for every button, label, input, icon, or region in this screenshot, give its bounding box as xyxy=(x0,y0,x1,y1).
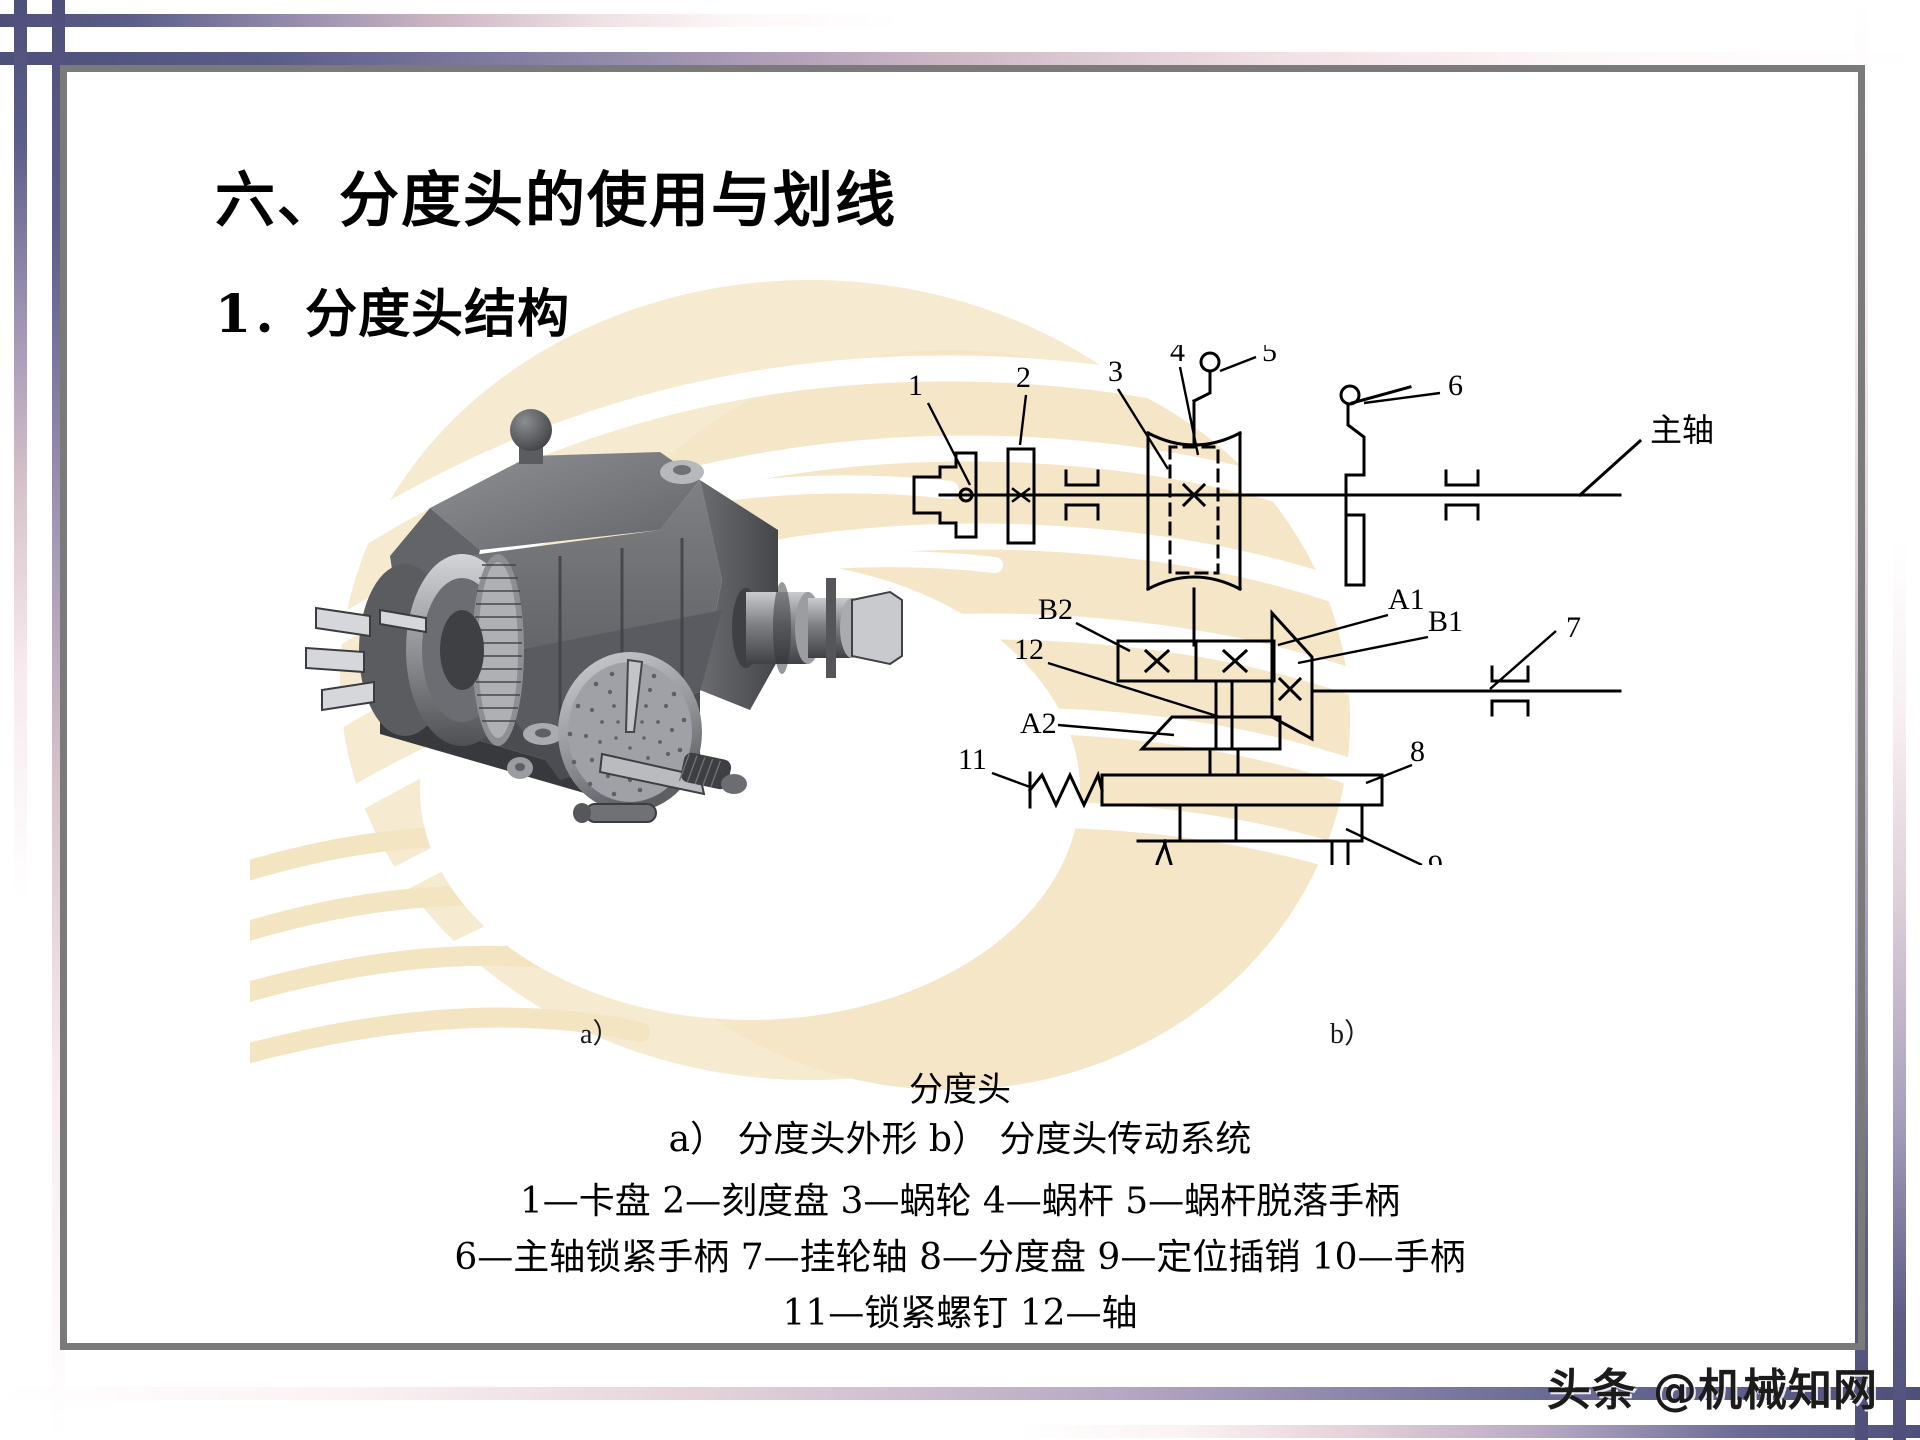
legend-line-1: 1—卡盘 2—刻度盘 3—蜗轮 4—蜗杆 5—蜗杆脱落手柄 xyxy=(0,1172,1920,1224)
diagram-label-7: 7 xyxy=(1566,611,1581,644)
diagram-label-spindle: 主轴 xyxy=(1650,411,1714,449)
diagram-label-a2: A2 xyxy=(1020,707,1057,740)
diagram-label-4: 4 xyxy=(1170,345,1185,368)
page-subtitle: 1．分度头结构 xyxy=(215,272,570,347)
watermark-label: 头条 @机械知网 xyxy=(1547,1354,1878,1418)
diagram-label-a1: A1 xyxy=(1388,583,1425,616)
deco-bar-left-1 xyxy=(14,0,27,900)
figure-caption-sub: a） 分度头外形 b） 分度头传动系统 xyxy=(0,1110,1920,1162)
legend-line-2: 6—主轴锁紧手柄 7—挂轮轴 8—分度盘 9—定位插销 10—手柄 xyxy=(0,1228,1920,1280)
diagram-label-12: 12 xyxy=(1014,633,1044,666)
diagram-label-11: 11 xyxy=(958,743,987,776)
deco-bar-top-2 xyxy=(0,52,1920,65)
diagram-label-2: 2 xyxy=(1016,361,1031,394)
diagram-label-b2: B2 xyxy=(1038,593,1073,626)
slide-canvas: 六、分度头的使用与划线 1．分度头结构 xyxy=(0,0,1920,1440)
figure-a-sublabel: a） xyxy=(580,1012,620,1052)
diagram-label-3: 3 xyxy=(1108,355,1123,388)
deco-bar-bottom-1 xyxy=(1020,1425,1920,1438)
diagram-label-b1: B1 xyxy=(1428,605,1463,638)
page-title: 六、分度头的使用与划线 xyxy=(215,152,897,239)
diagram-label-6: 6 xyxy=(1448,369,1463,402)
legend-line-3: 11—锁紧螺钉 12—轴 xyxy=(0,1284,1920,1336)
figure-b-transmission-schematic: 1 2 3 4 5 6 7 8 9 10 11 12 A1 A2 B1 B2 主… xyxy=(880,345,1890,865)
figure-caption-title: 分度头 xyxy=(0,1062,1920,1111)
deco-bar-top-1 xyxy=(0,14,900,27)
diagram-label-8: 8 xyxy=(1410,735,1425,768)
figure-a-dividing-head-photo xyxy=(230,360,930,840)
diagram-label-9: 9 xyxy=(1428,849,1443,865)
diagram-label-5: 5 xyxy=(1262,345,1277,368)
diagram-label-1: 1 xyxy=(908,369,923,402)
figure-b-sublabel: b） xyxy=(1330,1012,1372,1052)
